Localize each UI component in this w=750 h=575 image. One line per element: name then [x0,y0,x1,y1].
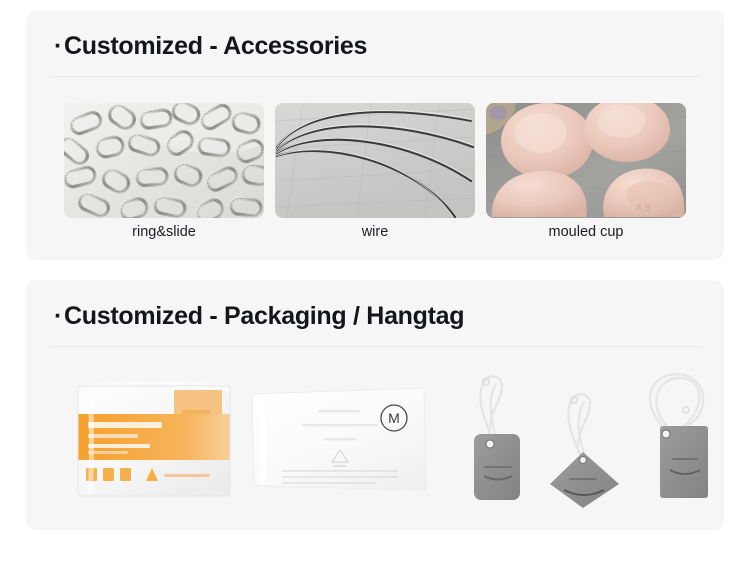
section-title-accessories: Customized - Accessories [64,32,367,60]
caption-wire: wire [275,224,475,240]
section-title-packaging: Customized - Packaging / Hangtag [64,302,464,330]
bullet-dot-icon: · [54,302,62,330]
product-detail-page: ·Customized - Accessories [0,0,750,575]
rectangular-hangtag-photo [446,366,546,511]
underwire-photo [275,103,475,218]
heading-divider [50,346,700,347]
image-tile-white-poly-bag[interactable]: M [246,366,432,511]
image-tile-rect-hangtag[interactable] [446,366,546,511]
page-title: ·Customized - Accessories [54,32,367,61]
image-tile-ring-slide[interactable] [64,103,264,218]
image-tile-rect-hangtag-long-string[interactable] [628,366,732,511]
image-tile-orange-poly-bag[interactable] [70,366,238,511]
accessories-caption-row: ring&slide wire mouled cup [64,224,686,240]
moulded-bra-cup-photo: A,B [486,103,686,218]
image-tile-moulded-cup[interactable]: A,B [486,103,686,218]
heading-divider [50,76,700,77]
diamond-hangtag-photo [536,366,636,511]
rectangular-hangtag-long-string-photo [628,366,732,511]
white-poly-bag-photo: M [246,366,432,511]
section-title-packaging-wrapper: ·Customized - Packaging / Hangtag [54,302,464,331]
caption-ring-slide: ring&slide [64,224,264,240]
caption-moulded-cup: mouled cup [486,224,686,240]
metal-rings-and-sliders-photo [64,103,264,218]
section-card-packaging: ·Customized - Packaging / Hangtag [26,280,724,530]
image-tile-diamond-hangtag[interactable] [536,366,636,511]
svg-text:A,B: A,B [636,203,651,213]
packaging-image-row: M [56,366,696,511]
section-card-accessories: ·Customized - Accessories [26,10,724,260]
image-tile-wire[interactable] [275,103,475,218]
size-mark-letter: M [388,410,400,426]
bullet-dot-icon: · [54,32,62,60]
accessories-image-row: A,B [64,103,686,218]
orange-label-poly-bag-photo [70,366,238,511]
